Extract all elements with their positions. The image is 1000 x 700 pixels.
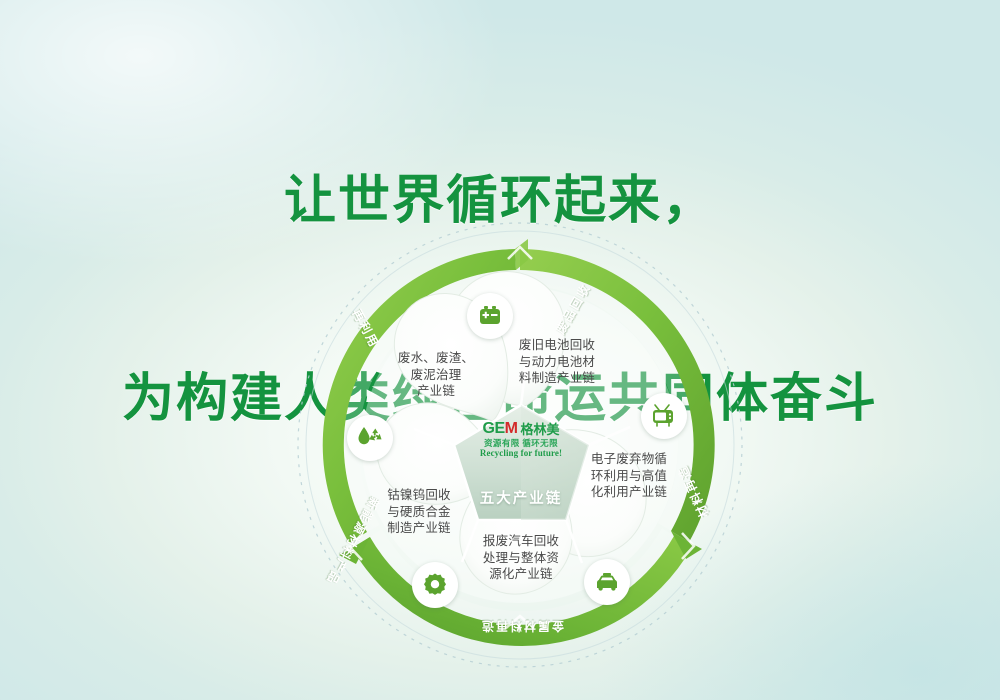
- petal-label-battery: 废旧电池回收 与动力电池材 料制造产业链: [504, 337, 610, 387]
- tv-icon-badge[interactable]: [641, 393, 687, 439]
- car-icon: [594, 569, 620, 595]
- ring-label-metal: 金属材料再造: [480, 618, 564, 635]
- battery-icon: [477, 303, 503, 329]
- petal-label-cobalt: 钴镍钨回收 与硬质合金 制造产业链: [368, 487, 470, 537]
- battery-icon-badge[interactable]: [467, 293, 513, 339]
- petal-label-water: 废水、废渣、 废泥治理 产业链: [388, 350, 484, 400]
- industry-chain-diagram: 废旧电池回收 与动力电池材 料制造产业链 电子废弃物循 环利用与高值 化利用产业…: [290, 215, 750, 675]
- logo-slogan-cn: 资源有限 循环无限: [457, 439, 585, 448]
- logo-slogan-en: Recycling for future!: [457, 449, 585, 459]
- water-recycle-icon: [356, 425, 384, 451]
- logo-gem-text: GEM: [483, 421, 518, 437]
- logo-wordmark-row: GEM 格林美: [457, 421, 585, 437]
- petal-label-car: 报废汽车回收 处理与整体资 源化产业链: [468, 533, 574, 583]
- petal-label-ewaste: 电子废弃物循 环利用与高值 化利用产业链: [580, 451, 678, 501]
- center-subtitle: 五大产业链: [457, 487, 585, 508]
- gear-icon-badge[interactable]: [412, 562, 458, 608]
- logo-chinese-name: 格林美: [520, 423, 559, 436]
- logo-gem-letters: GEM: [483, 421, 518, 437]
- center-logo: GEM 格林美 资源有限 循环无限 Recycling for future!: [457, 421, 585, 459]
- car-icon-badge[interactable]: [584, 559, 630, 605]
- gear-icon: [422, 572, 448, 598]
- water-recycle-icon-badge[interactable]: [347, 415, 393, 461]
- tv-icon: [651, 403, 677, 429]
